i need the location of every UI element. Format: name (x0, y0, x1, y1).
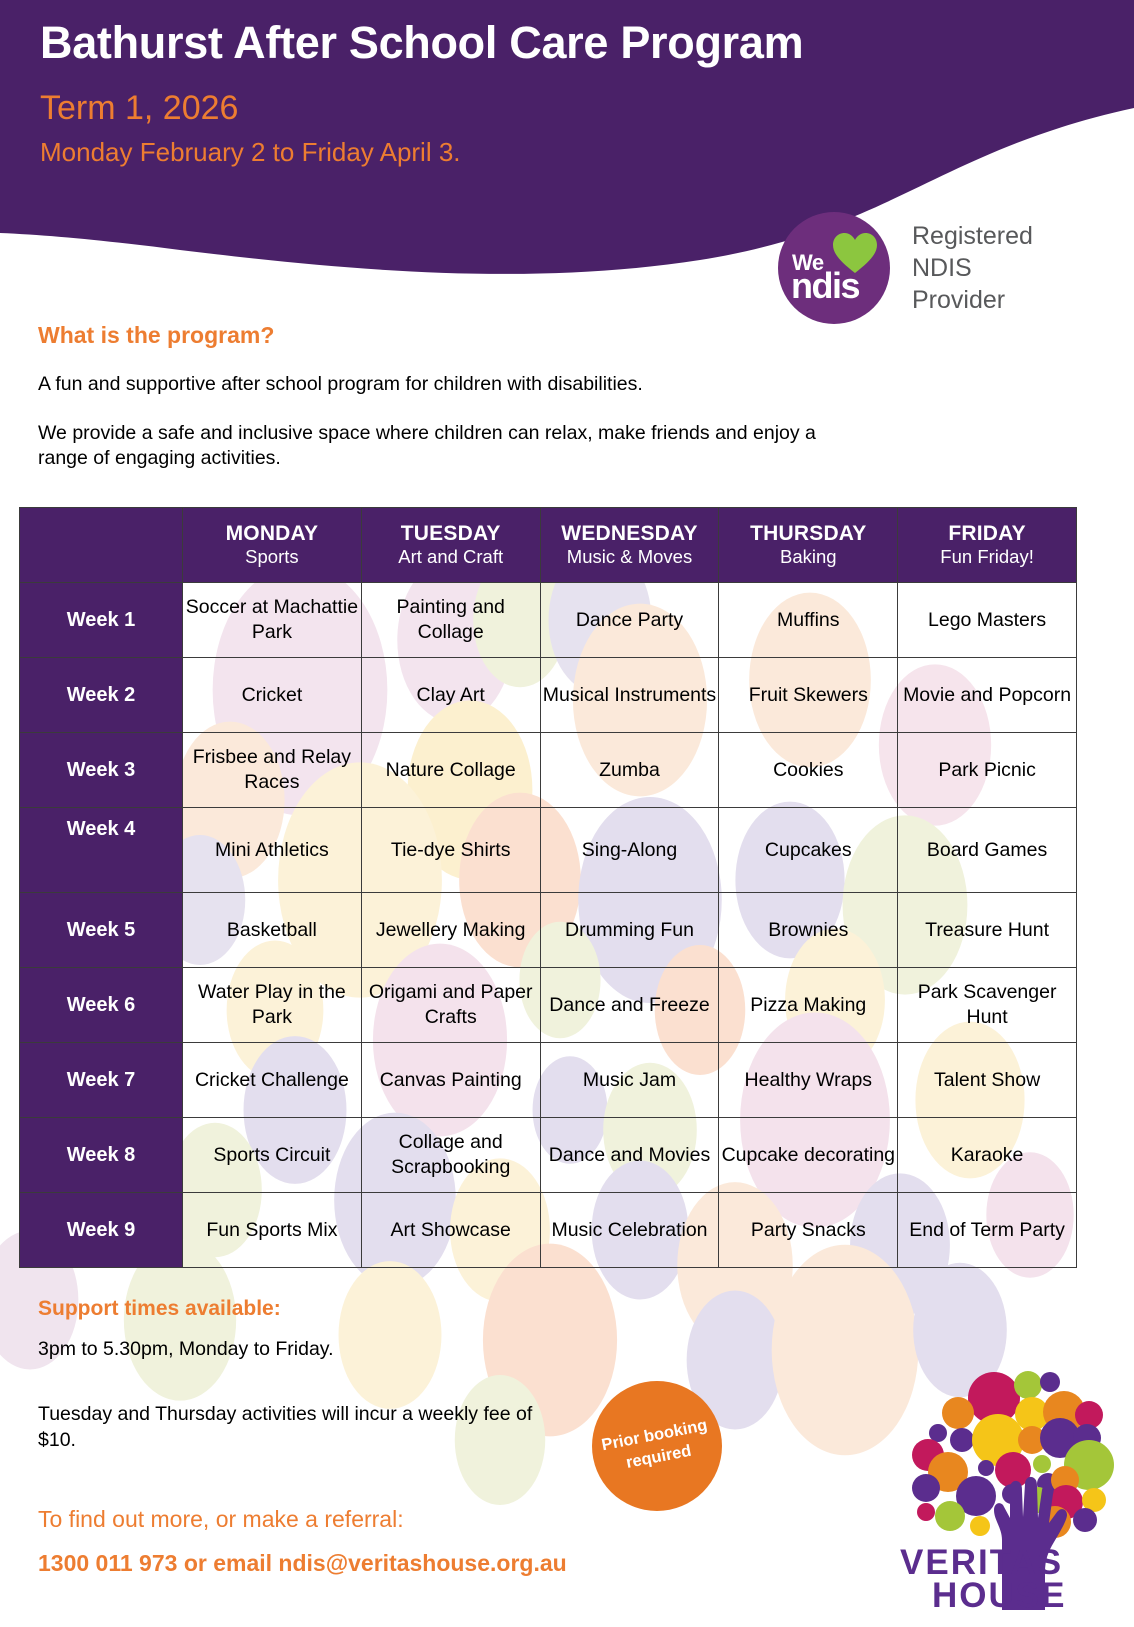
day-theme: Fun Friday! (898, 546, 1076, 568)
ndis-caption-line-3: Provider (912, 284, 1033, 316)
ndis-caption-line-1: Registered (912, 220, 1033, 252)
activity-cell: Cupcakes (719, 808, 898, 893)
activity-cell: Jewellery Making (361, 893, 540, 968)
ndis-provider-badge: We ndis Registered NDIS Provider (778, 212, 1033, 324)
schedule-table: MONDAYSportsTUESDAYArt and CraftWEDNESDA… (19, 507, 1077, 1268)
table-row: Week 9Fun Sports MixArt ShowcaseMusic Ce… (20, 1193, 1077, 1268)
table-header-row: MONDAYSportsTUESDAYArt and CraftWEDNESDA… (20, 508, 1077, 583)
activity-cell: Dance and Movies (540, 1118, 719, 1193)
table-row: Week 5BasketballJewellery MakingDrumming… (20, 893, 1077, 968)
table-row: Week 7Cricket ChallengeCanvas PaintingMu… (20, 1043, 1077, 1118)
veritas-house-logo: VERITAS HOUSE (882, 1360, 1114, 1618)
activity-cell: Treasure Hunt (898, 893, 1077, 968)
page-title: Bathurst After School Care Program (40, 18, 803, 68)
day-theme: Art and Craft (362, 546, 540, 568)
activity-cell: Healthy Wraps (719, 1043, 898, 1118)
activity-cell: Clay Art (361, 658, 540, 733)
week-label-cell: Week 1 (20, 583, 183, 658)
activity-cell: Nature Collage (361, 733, 540, 808)
activity-cell: Tie-dye Shirts (361, 808, 540, 893)
term-label: Term 1, 2026 (40, 90, 803, 127)
veritas-logo-line-2: HOUSE (932, 1576, 1066, 1615)
support-times-heading: Support times available: (38, 1297, 558, 1321)
activity-cell: Brownies (719, 893, 898, 968)
activity-cell: Movie and Popcorn (898, 658, 1077, 733)
schedule-table-body: Week 1Soccer at Machattie ParkPainting a… (20, 583, 1077, 1268)
activity-cell: Drumming Fun (540, 893, 719, 968)
activity-cell: Zumba (540, 733, 719, 808)
table-row: Week 6Water Play in the ParkOrigami and … (20, 968, 1077, 1043)
prior-booking-badge-text: Prior booking required (600, 1414, 714, 1478)
day-header-monday: MONDAYSports (183, 508, 362, 583)
day-name: MONDAY (183, 522, 361, 547)
day-name: TUESDAY (362, 522, 540, 547)
day-header-tuesday: TUESDAYArt and Craft (361, 508, 540, 583)
activity-cell: End of Term Party (898, 1193, 1077, 1268)
ndis-caption: Registered NDIS Provider (912, 220, 1033, 316)
activity-cell: Origami and Paper Crafts (361, 968, 540, 1043)
intro-heading: What is the program? (38, 322, 838, 349)
day-header-thursday: THURSDAYBaking (719, 508, 898, 583)
day-header-wednesday: WEDNESDAYMusic & Moves (540, 508, 719, 583)
day-name: WEDNESDAY (541, 522, 719, 547)
activity-cell: Music Celebration (540, 1193, 719, 1268)
week-label-cell: Week 5 (20, 893, 183, 968)
day-theme: Sports (183, 546, 361, 568)
table-row: Week 1Soccer at Machattie ParkPainting a… (20, 583, 1077, 658)
table-row: Week 3Frisbee and Relay RacesNature Coll… (20, 733, 1077, 808)
ndis-caption-line-2: NDIS (912, 252, 1033, 284)
week-label-cell: Week 3 (20, 733, 183, 808)
activity-cell: Pizza Making (719, 968, 898, 1043)
activity-cell: Cricket (183, 658, 362, 733)
program-intro-section: What is the program? A fun and supportiv… (38, 322, 838, 472)
activity-cell: Board Games (898, 808, 1077, 893)
table-row: Week 8Sports CircuitCollage and Scrapboo… (20, 1118, 1077, 1193)
activity-cell: Soccer at Machattie Park (183, 583, 362, 658)
activity-cell: Art Showcase (361, 1193, 540, 1268)
term-dates: Monday February 2 to Friday April 3. (40, 138, 803, 167)
intro-paragraph-2: We provide a safe and inclusive space wh… (38, 421, 838, 472)
activity-cell: Frisbee and Relay Races (183, 733, 362, 808)
activity-cell: Dance Party (540, 583, 719, 658)
activity-cell: Dance and Freeze (540, 968, 719, 1043)
activity-cell: Fruit Skewers (719, 658, 898, 733)
activity-cell: Music Jam (540, 1043, 719, 1118)
day-name: THURSDAY (719, 522, 897, 547)
day-theme: Music & Moves (541, 546, 719, 568)
activity-cell: Park Picnic (898, 733, 1077, 808)
intro-paragraph-1: A fun and supportive after school progra… (38, 372, 838, 398)
activity-cell: Water Play in the Park (183, 968, 362, 1043)
activity-cell: Cupcake decorating (719, 1118, 898, 1193)
activity-cell: Sports Circuit (183, 1118, 362, 1193)
week-label-cell: Week 4 (20, 808, 183, 893)
support-times-value: 3pm to 5.30pm, Monday to Friday. (38, 1337, 558, 1362)
ndis-logo: We ndis (778, 212, 890, 324)
day-theme: Baking (719, 546, 897, 568)
activity-cell: Sing-Along (540, 808, 719, 893)
day-name: FRIDAY (898, 522, 1076, 547)
schedule-table-wrapper: MONDAYSportsTUESDAYArt and CraftWEDNESDA… (19, 507, 1076, 1268)
table-row: Week 4Mini AthleticsTie-dye ShirtsSing-A… (20, 808, 1077, 893)
activity-cell: Fun Sports Mix (183, 1193, 362, 1268)
activity-cell: Cookies (719, 733, 898, 808)
day-header-friday: FRIDAYFun Friday! (898, 508, 1077, 583)
footer-info-section: Support times available: 3pm to 5.30pm, … (38, 1297, 558, 1579)
activity-cell: Mini Athletics (183, 808, 362, 893)
activity-cell: Talent Show (898, 1043, 1077, 1118)
activity-cell: Karaoke (898, 1118, 1077, 1193)
referral-cta: To find out more, or make a referral: (38, 1505, 558, 1535)
prior-booking-badge: Prior booking required (592, 1381, 722, 1511)
activity-cell: Musical Instruments (540, 658, 719, 733)
week-label-cell: Week 6 (20, 968, 183, 1043)
activity-cell: Canvas Painting (361, 1043, 540, 1118)
fee-note: Tuesday and Thursday activities will inc… (38, 1402, 558, 1453)
ndis-wordmark: ndis (791, 268, 859, 304)
week-label-cell: Week 9 (20, 1193, 183, 1268)
activity-cell: Muffins (719, 583, 898, 658)
activity-cell: Basketball (183, 893, 362, 968)
week-label-cell: Week 8 (20, 1118, 183, 1193)
activity-cell: Painting and Collage (361, 583, 540, 658)
activity-cell: Collage and Scrapbooking (361, 1118, 540, 1193)
activity-cell: Party Snacks (719, 1193, 898, 1268)
week-label-cell: Week 2 (20, 658, 183, 733)
activity-cell: Park Scavenger Hunt (898, 968, 1077, 1043)
activity-cell: Cricket Challenge (183, 1043, 362, 1118)
contact-details: 1300 011 973 or email ndis@veritashouse.… (38, 1549, 558, 1579)
table-row: Week 2CricketClay ArtMusical Instruments… (20, 658, 1077, 733)
table-corner-cell (20, 508, 183, 583)
week-label-cell: Week 7 (20, 1043, 183, 1118)
activity-cell: Lego Masters (898, 583, 1077, 658)
